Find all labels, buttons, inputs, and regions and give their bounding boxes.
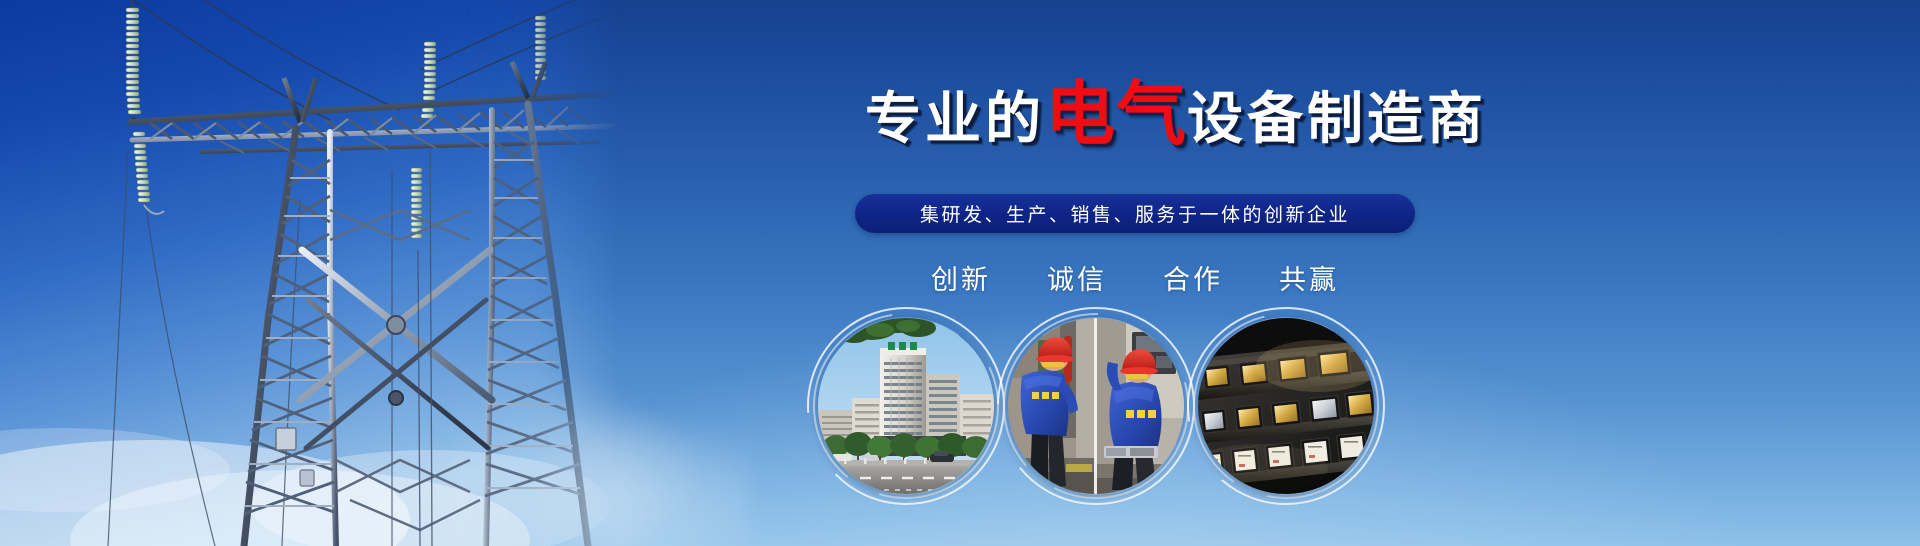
- subtitle-pill: 集研发、生产、销售、服务于一体的创新企业: [855, 194, 1415, 233]
- keyword-row: 创新 诚信 合作 共赢: [855, 258, 1415, 297]
- keyword-winwin: 共赢: [1279, 258, 1339, 297]
- headline-part-2: 设备制造商: [1187, 87, 1487, 150]
- page-title: 专业的电气设备制造商: [865, 74, 1487, 155]
- headline-part-1: 专业的: [865, 87, 1045, 150]
- workers-image: [1008, 318, 1184, 494]
- keyword-cooperation: 合作: [1163, 258, 1223, 297]
- awards-wall-image: [1198, 318, 1374, 494]
- office-building-image: [818, 318, 994, 494]
- headline-accent: 电气: [1045, 75, 1187, 153]
- feature-photo-awards[interactable]: [1198, 318, 1374, 494]
- feature-photo-office-building[interactable]: [818, 318, 994, 494]
- keyword-integrity: 诚信: [1047, 258, 1107, 297]
- promo-banner: 专业的电气设备制造商 集研发、生产、销售、服务于一体的创新企业 创新 诚信 合作…: [0, 0, 1920, 546]
- subtitle-text: 集研发、生产、销售、服务于一体的创新企业: [920, 200, 1350, 227]
- transmission-tower-photo: [0, 0, 620, 546]
- keyword-innovation: 创新: [931, 258, 991, 297]
- feature-photo-workers[interactable]: [1008, 318, 1184, 494]
- feature-photo-group: [800, 318, 1420, 518]
